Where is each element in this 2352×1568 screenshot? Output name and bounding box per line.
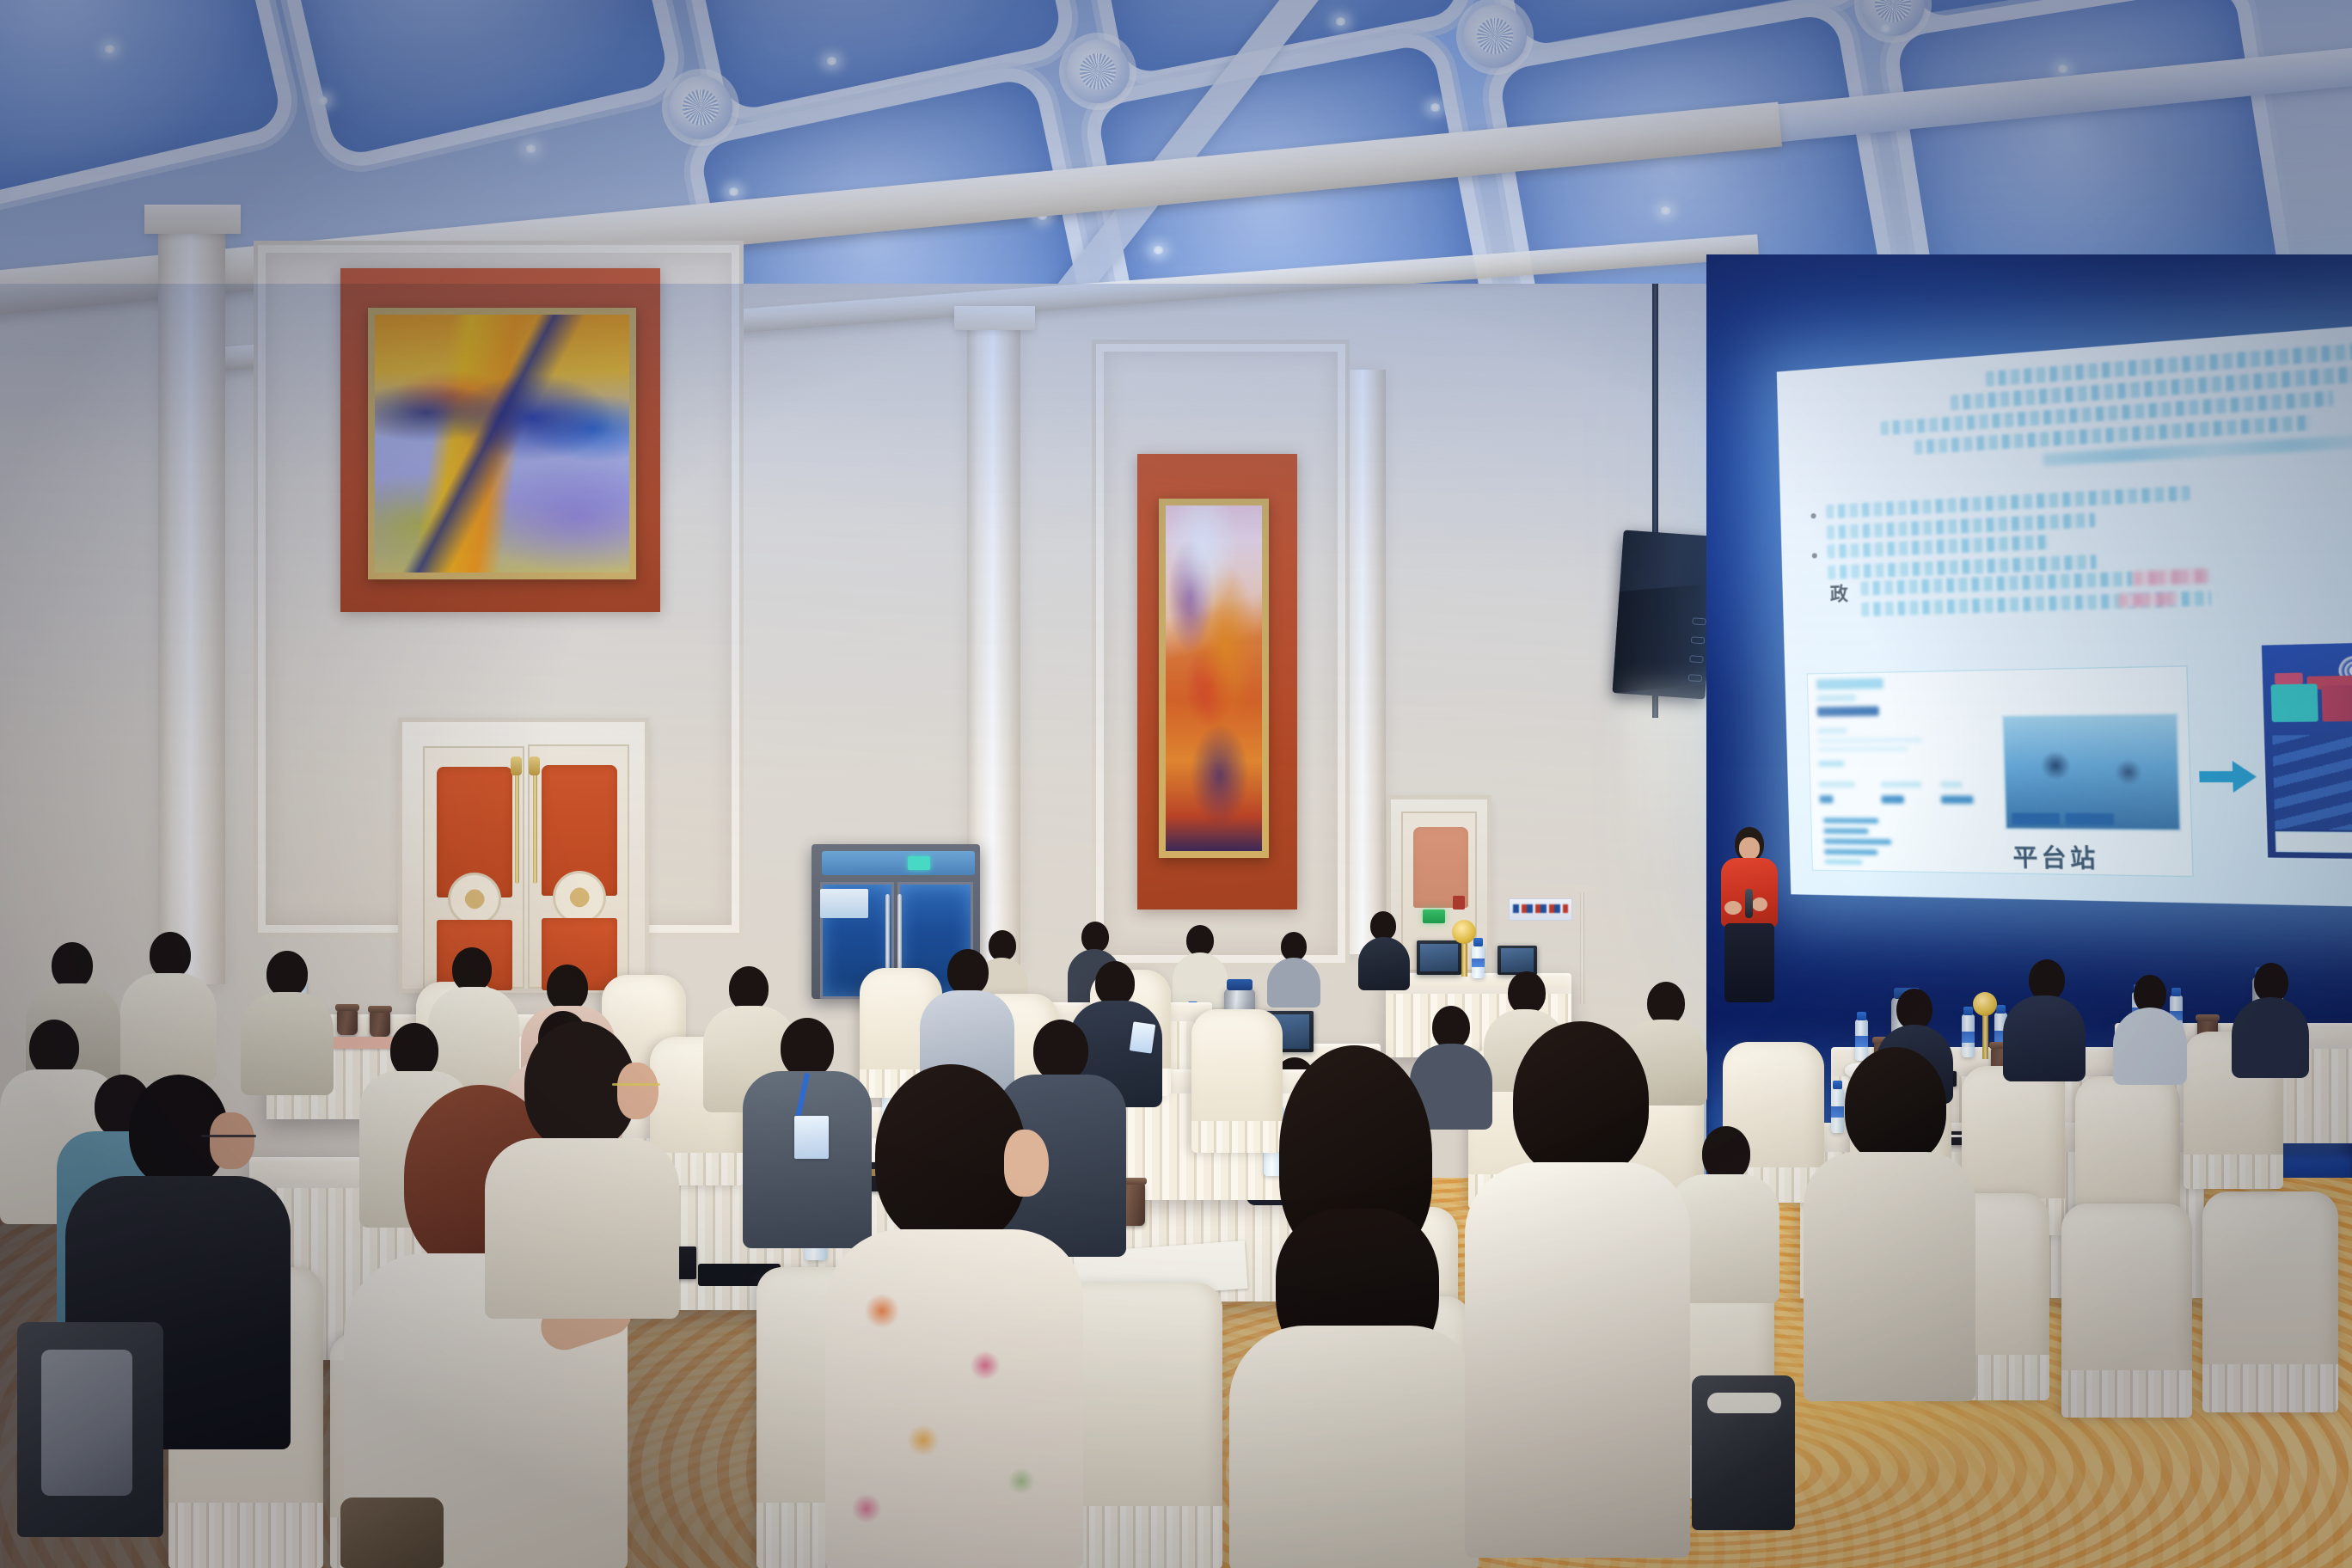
pa-speaker-vent-2: [1691, 636, 1706, 644]
head: [452, 947, 492, 992]
presenter-hand-right: [1752, 897, 1767, 911]
presenter: [1711, 827, 1790, 999]
table-number-stand-back: [1461, 940, 1467, 977]
head: [2029, 959, 2065, 1001]
head: [390, 1023, 438, 1078]
slide-product-card: [1807, 665, 2194, 877]
head: [547, 965, 588, 1011]
wall-sign-upper-marks: [1513, 904, 1568, 913]
av-laptop-1[interactable]: [1417, 940, 1461, 975]
bag-strap: [1707, 1393, 1781, 1413]
head: [729, 966, 769, 1011]
head: [1095, 961, 1135, 1006]
projection-screen: 政: [1777, 323, 2352, 908]
fridge-header-panel: [822, 851, 975, 875]
torso: [1267, 958, 1320, 1008]
name-badge-n5: [794, 1116, 829, 1159]
head: [52, 942, 93, 989]
pa-speaker-vent-3: [1689, 655, 1704, 663]
torso: [2232, 997, 2309, 1078]
tea-mug-l1: [337, 1009, 358, 1035]
door-handle-b[interactable]: [533, 772, 537, 884]
person-right-3: [2113, 975, 2187, 1081]
pilaster-capital-mid: [954, 306, 1035, 330]
torso: [2113, 1008, 2187, 1085]
head: [29, 1020, 79, 1076]
torso: [1465, 1162, 1690, 1558]
head: [1513, 1021, 1649, 1178]
slide-card-button-2: [2065, 813, 2114, 825]
person-fg-right: [1465, 1021, 1690, 1568]
abstract-vertical-painting: [1166, 505, 1262, 851]
torso: [485, 1138, 679, 1319]
slide-mobile-app-screenshot: [2259, 640, 2352, 861]
pa-speaker-vent-4: [1688, 674, 1703, 682]
backpack-panel: [41, 1350, 132, 1496]
person-fg-floral-blouse: [825, 1064, 1083, 1568]
torso: [2003, 995, 2086, 1081]
head: [1186, 925, 1214, 956]
artwork-frame-mid: [1159, 499, 1269, 858]
slide-card-button-1: [2012, 813, 2060, 825]
eyeglasses: [201, 1135, 256, 1137]
presenter-hand-left: [1724, 901, 1742, 915]
slide-caption: 平台站: [2012, 838, 2099, 874]
chair-r6[interactable]: [2202, 1191, 2338, 1412]
head: [1508, 971, 1546, 1014]
head: [1702, 1126, 1750, 1181]
artwork-frame-left: [368, 308, 636, 579]
door-handle-knob-b: [529, 756, 540, 775]
presenter-skirt: [1724, 923, 1774, 1002]
pilaster-capital-left: [144, 205, 241, 234]
face: [1004, 1130, 1049, 1197]
head: [1896, 989, 1932, 1030]
exit-sign-icon: [1423, 910, 1445, 923]
torso: [1173, 952, 1228, 1008]
person-fg-far-right: [1804, 1047, 1975, 1408]
torso: [825, 1229, 1083, 1568]
door-medallion-b: [555, 873, 603, 922]
slide-meeting-photo: [2001, 713, 2181, 831]
door-handle-knob-a: [511, 756, 522, 775]
face: [210, 1112, 254, 1169]
torso: [1229, 1326, 1479, 1568]
person-fg-long-hair: [1229, 1045, 1479, 1568]
abstract-landscape-painting: [375, 315, 629, 573]
person-right-4: [2232, 963, 2309, 1075]
torso: [120, 973, 217, 1081]
person-m3: [241, 951, 334, 1088]
conference-hall-photo: 政: [0, 0, 2352, 1568]
wall-pilaster-right: [1341, 370, 1386, 954]
door-medallion-a: [450, 875, 499, 923]
presenter-face: [1739, 837, 1760, 860]
right-arrow-icon: [2199, 761, 2257, 793]
eyeglasses: [612, 1083, 660, 1086]
chair-r5[interactable]: [2061, 1204, 2192, 1417]
head: [1081, 922, 1109, 952]
head: [150, 932, 191, 978]
face: [617, 1063, 658, 1119]
line-array-pa-speaker: [1613, 530, 1717, 699]
water-bottle-av: [1472, 946, 1485, 978]
door-handle-a[interactable]: [515, 772, 519, 884]
slide-text-zheng: 政: [1829, 579, 1848, 606]
head: [1845, 1047, 1946, 1164]
handheld-microphone: [1745, 889, 1753, 918]
handbag-foreground: [340, 1498, 444, 1568]
head: [947, 949, 989, 995]
pa-speaker-vent-1: [1692, 617, 1706, 625]
torso: [1804, 1152, 1975, 1401]
head: [1281, 932, 1307, 961]
chair-f3[interactable]: [1064, 1283, 1222, 1568]
fire-alarm-icon: [1453, 896, 1465, 910]
name-badge-m8: [1130, 1021, 1155, 1053]
person-right-2: [2003, 959, 2086, 1080]
head: [266, 951, 308, 997]
fridge-label-sticker: [820, 889, 868, 918]
wall-conduit-pipe: [1580, 892, 1584, 1004]
av-laptop-2[interactable]: [1498, 946, 1537, 975]
head: [1647, 982, 1685, 1025]
wall-pilaster-left: [158, 219, 225, 984]
table-number-stand-r1: [1982, 1013, 1988, 1059]
door-leaf-b[interactable]: [528, 744, 629, 989]
person-fg-glasses-woman: [481, 1021, 679, 1314]
person-m2: [120, 932, 217, 1076]
head: [1370, 911, 1396, 940]
fridge-display-icon: [908, 856, 930, 870]
